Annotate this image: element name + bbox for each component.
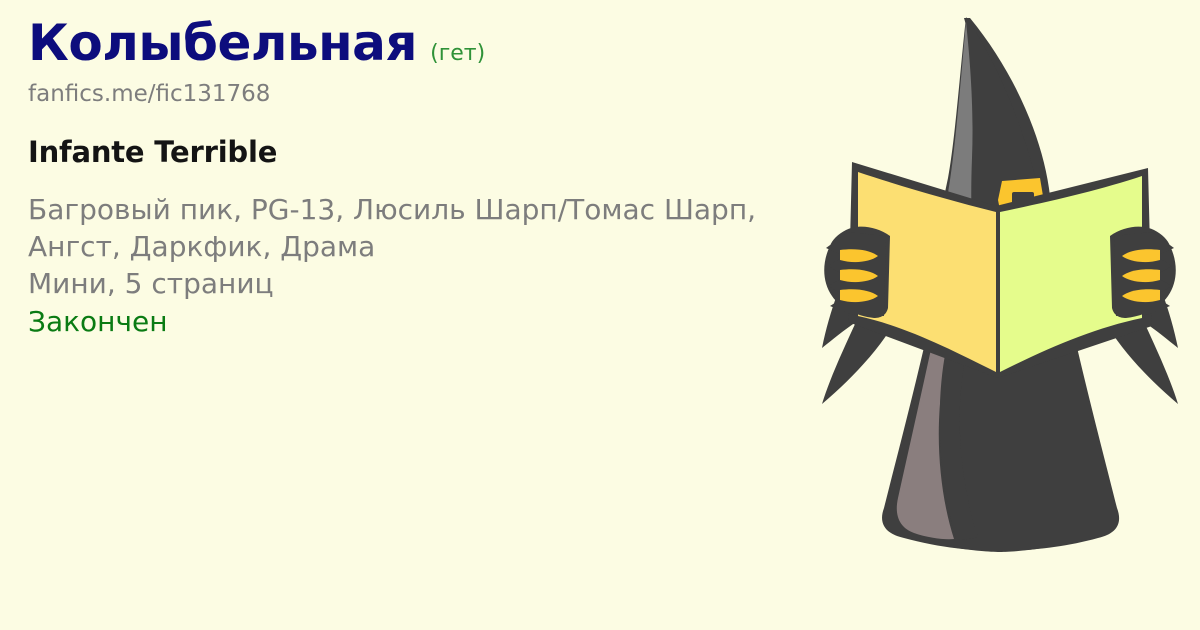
text-column: Колыбельная (гет) fanfics.me/fic131768 I… xyxy=(28,18,818,340)
og-preview-card: Колыбельная (гет) fanfics.me/fic131768 I… xyxy=(0,0,1200,630)
fandom-rating-pairing-genres: Багровый пик, PG-13, Люсиль Шарп/Томас Ш… xyxy=(28,191,798,265)
metadata-block: Багровый пик, PG-13, Люсиль Шарп/Томас Ш… xyxy=(28,191,818,340)
wizard-illustration-svg xyxy=(800,0,1200,630)
size-and-pages: Мини, 5 страниц xyxy=(28,265,798,302)
wizard-reading-book-illustration xyxy=(800,0,1200,630)
book-spine xyxy=(996,211,1000,374)
fic-url: fanfics.me/fic131768 xyxy=(28,81,818,107)
right-hand-group xyxy=(1110,227,1176,318)
right-hand-fingers xyxy=(1122,249,1160,302)
left-hand-group xyxy=(824,227,890,318)
status-badge: Закончен xyxy=(28,303,818,340)
title-row: Колыбельная (гет) xyxy=(28,18,818,68)
left-hand-fingers xyxy=(840,249,878,302)
page-title: Колыбельная xyxy=(28,14,417,72)
fic-category-label: (гет) xyxy=(430,41,485,66)
author-name: Infante Terrible xyxy=(28,135,818,169)
